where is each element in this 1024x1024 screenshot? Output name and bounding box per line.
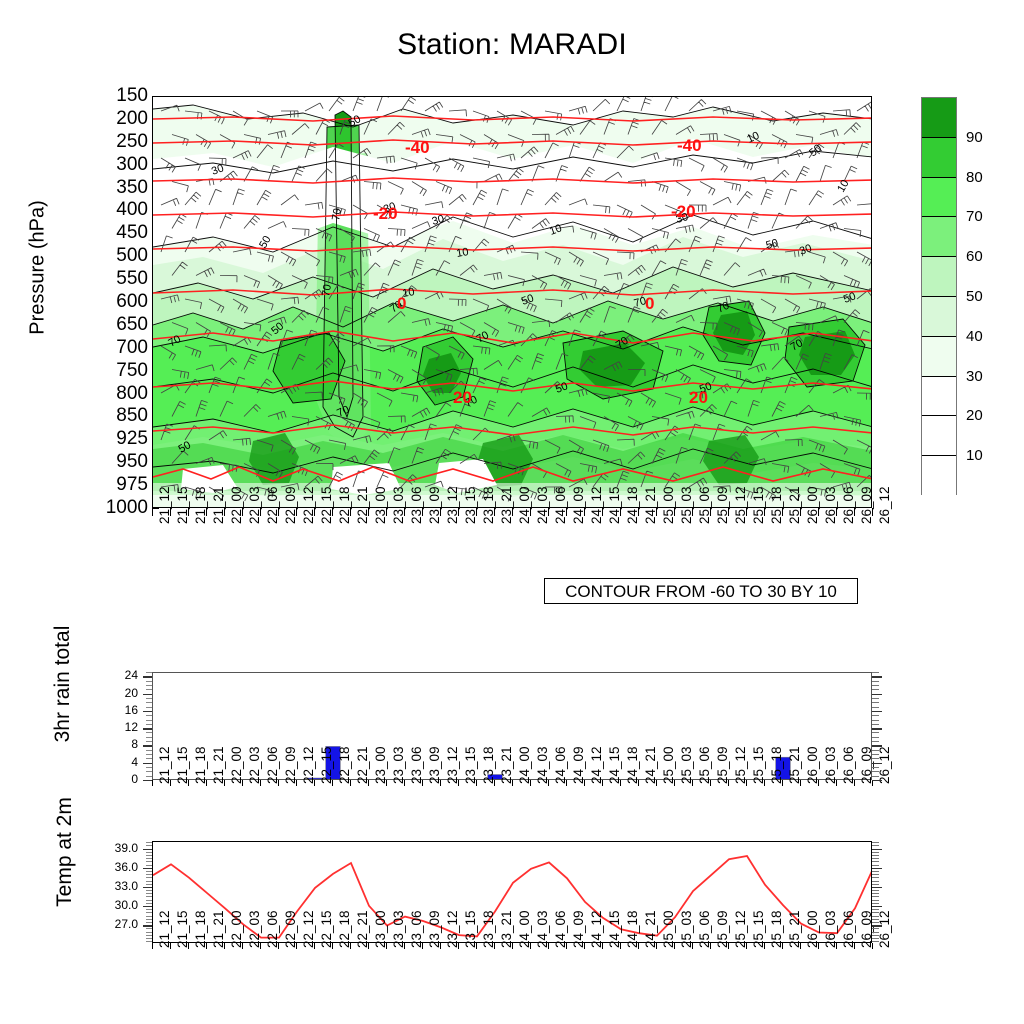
svg-text:10: 10 xyxy=(455,246,469,260)
rain-y-tick: 24 xyxy=(98,669,138,681)
svg-text:0: 0 xyxy=(397,294,406,313)
temp-x-tick-mark xyxy=(350,943,351,949)
main-x-tick-mark xyxy=(494,508,495,516)
main-x-tick: 23_06 xyxy=(409,486,424,524)
rain-right-tick xyxy=(872,689,879,690)
rain-x-tick: 23_12 xyxy=(445,746,460,784)
rain-right-tick xyxy=(872,728,882,729)
main-x-tick-mark xyxy=(584,508,585,516)
temp-y-tick: 33.0 xyxy=(88,880,138,892)
temp-y-tick: 39.0 xyxy=(88,842,138,854)
temp-x-tick-mark xyxy=(188,943,189,949)
temp-x-tick-mark xyxy=(656,943,657,949)
temp-x-tick-mark xyxy=(440,943,441,949)
rain-x-tick: 22_12 xyxy=(301,746,316,784)
rain-x-tick: 23_15 xyxy=(463,746,478,784)
temp-x-tick-mark xyxy=(638,943,639,949)
rain-x-tick-mark xyxy=(278,780,279,786)
temp-y-tick-mark xyxy=(143,868,152,869)
temp-x-tick-mark xyxy=(332,943,333,949)
main-x-tick-mark xyxy=(548,508,549,516)
rain-y-tick: 8 xyxy=(98,738,138,750)
temp-x-tick-mark xyxy=(422,943,423,949)
svg-text:70: 70 xyxy=(330,207,344,221)
temp-x-tick-mark xyxy=(476,943,477,949)
colorbar-cell xyxy=(922,98,956,138)
rain-x-tick-mark xyxy=(728,780,729,786)
rain-right-tick xyxy=(872,763,882,764)
temp-x-tick-mark xyxy=(170,943,171,949)
main-x-tick-mark xyxy=(710,508,711,516)
svg-text:70: 70 xyxy=(320,283,334,297)
rain-x-tick-mark xyxy=(620,780,621,786)
temp-x-tick-mark xyxy=(674,943,675,949)
temp-right-tick xyxy=(872,935,879,936)
rain-x-tick: 21_12 xyxy=(157,746,172,784)
rain-x-tick-mark xyxy=(674,780,675,786)
main-x-tick-mark xyxy=(800,508,801,516)
rain-x-tick-mark xyxy=(602,780,603,786)
temp-x-tick-mark xyxy=(386,943,387,949)
temp-x-tick-mark xyxy=(152,943,153,949)
main-y-tick: 250 xyxy=(88,132,148,151)
rain-x-tick-mark xyxy=(746,780,747,786)
main-x-tick: 26_00 xyxy=(805,486,820,524)
rain-x-tick: 23_18 xyxy=(481,746,496,784)
rain-x-tick: 24_15 xyxy=(607,746,622,784)
main-x-tick-mark xyxy=(350,508,351,516)
rain-x-tick: 24_00 xyxy=(517,746,532,784)
main-x-tick: 22_00 xyxy=(229,486,244,524)
colorbar-cell xyxy=(922,377,956,417)
humidity-cross-section-plot[interactable]: 30 50 50 70 70 70 30 30 10 70 50 70 70 5… xyxy=(152,96,872,508)
rain-x-tick: 22_00 xyxy=(229,746,244,784)
main-x-tick: 25_15 xyxy=(751,486,766,524)
main-y-tick: 150 xyxy=(88,86,148,105)
rain-x-tick: 26_03 xyxy=(823,746,838,784)
temp-y-tick-mark xyxy=(143,849,152,850)
rain-x-tick-mark xyxy=(494,780,495,786)
main-y-tick: 700 xyxy=(88,338,148,357)
rain-x-tick: 22_18 xyxy=(337,746,352,784)
rain-x-tick-mark xyxy=(476,780,477,786)
main-x-tick-mark xyxy=(674,508,675,516)
temp-axis-label: Temp at 2m xyxy=(53,752,77,952)
rain-y-tick-mark xyxy=(143,745,152,746)
main-x-tick: 24_00 xyxy=(517,486,532,524)
main-x-tick-mark xyxy=(746,508,747,516)
temp-y-tick-mark xyxy=(143,887,152,888)
colorbar-cell xyxy=(922,416,956,456)
temp-x-tick-mark xyxy=(818,943,819,949)
main-x-tick: 26_06 xyxy=(841,486,856,524)
main-x-tick-mark xyxy=(170,508,171,516)
main-x-tick-mark xyxy=(728,508,729,516)
temp-right-tick xyxy=(872,922,879,923)
rain-x-tick-mark xyxy=(386,780,387,786)
temp-x-tick-mark xyxy=(404,943,405,949)
main-x-tick: 23_03 xyxy=(391,486,406,524)
main-x-tick: 22_12 xyxy=(301,486,316,524)
main-x-tick: 22_03 xyxy=(247,486,262,524)
main-x-tick: 23_09 xyxy=(427,486,442,524)
rain-x-tick-mark xyxy=(782,780,783,786)
temp-right-tick xyxy=(872,928,879,929)
rain-x-tick-mark xyxy=(584,780,585,786)
main-x-tick-mark xyxy=(656,508,657,516)
main-x-tick-mark xyxy=(620,508,621,516)
temp-right-tick xyxy=(872,900,879,901)
main-x-tick-mark xyxy=(422,508,423,516)
temp-right-tick xyxy=(872,916,879,917)
rain-right-tick xyxy=(872,780,882,781)
colorbar-cell xyxy=(922,297,956,337)
rain-x-tick: 21_21 xyxy=(211,746,226,784)
temp-x-tick-mark xyxy=(728,943,729,949)
main-x-tick: 24_15 xyxy=(607,486,622,524)
rain-x-tick-mark xyxy=(800,780,801,786)
temp-right-tick xyxy=(872,877,879,878)
main-y-tick: 850 xyxy=(88,406,148,425)
colorbar-cell xyxy=(922,337,956,377)
temp-x-tick-mark xyxy=(260,943,261,949)
rain-y-tick: 20 xyxy=(98,687,138,699)
temp-y-tick: 27.0 xyxy=(88,918,138,930)
rain-x-tick-mark xyxy=(404,780,405,786)
main-x-tick-mark xyxy=(242,508,243,516)
rain-right-tick xyxy=(872,694,882,695)
main-x-tick: 23_12 xyxy=(445,486,460,524)
main-x-tick: 22_09 xyxy=(283,486,298,524)
main-y-tick: 1000 xyxy=(88,498,148,517)
rain-y-tick: 0 xyxy=(98,773,138,785)
svg-text:-40: -40 xyxy=(677,136,702,155)
colorbar-cell xyxy=(922,217,956,257)
main-x-tick: 25_12 xyxy=(733,486,748,524)
temp-x-tick-mark xyxy=(602,943,603,949)
temp-right-tick xyxy=(872,861,879,862)
temp-x-tick-mark xyxy=(458,943,459,949)
temp-x-tick-mark xyxy=(548,943,549,949)
rain-x-tick-mark xyxy=(242,780,243,786)
rain-y-tick-mark xyxy=(143,763,152,764)
main-x-tick-mark xyxy=(224,508,225,516)
contour-note: CONTOUR FROM -60 TO 30 BY 10 xyxy=(544,578,858,604)
temp-x-tick-mark xyxy=(620,943,621,949)
temp-x-tick-mark xyxy=(746,943,747,949)
rain-x-tick-mark xyxy=(350,780,351,786)
rain-y-tick: 4 xyxy=(98,756,138,768)
svg-text:-20: -20 xyxy=(373,204,398,223)
rain-x-tick: 25_18 xyxy=(769,746,784,784)
svg-text:20: 20 xyxy=(453,388,472,407)
colorbar-tick-label: 10 xyxy=(966,448,983,463)
temp-x-tick-mark xyxy=(854,943,855,949)
rain-right-tick xyxy=(872,732,879,733)
main-y-axis-label: Pressure (hPa) xyxy=(27,88,50,448)
colorbar-tick-label: 50 xyxy=(966,289,983,304)
main-x-tick-mark xyxy=(386,508,387,516)
rain-x-tick: 25_06 xyxy=(697,746,712,784)
rain-x-tick: 25_00 xyxy=(661,746,676,784)
main-x-tick: 25_00 xyxy=(661,486,676,524)
svg-text:-40: -40 xyxy=(405,138,430,157)
rain-x-tick-mark xyxy=(548,780,549,786)
temp-right-tick xyxy=(872,858,879,859)
main-x-tick: 24_06 xyxy=(553,486,568,524)
colorbar-tick-label: 20 xyxy=(966,408,983,423)
rain-x-tick: 26_09 xyxy=(859,746,874,784)
temp-x-tick-mark xyxy=(368,943,369,949)
rain-x-tick-mark xyxy=(170,780,171,786)
temp-right-tick xyxy=(872,865,879,866)
rain-x-tick-mark xyxy=(710,780,711,786)
temp-x-tick-mark xyxy=(782,943,783,949)
main-x-tick: 25_18 xyxy=(769,486,784,524)
temp-right-tick xyxy=(872,871,879,872)
temp-x-tick-mark xyxy=(800,943,801,949)
temp-right-tick xyxy=(872,881,879,882)
main-x-tick: 22_21 xyxy=(355,486,370,524)
main-x-tick-mark xyxy=(458,508,459,516)
rain-x-tick: 26_06 xyxy=(841,746,856,784)
main-x-tick: 21_12 xyxy=(157,486,172,524)
rain-right-tick xyxy=(872,720,879,721)
main-x-tick: 21_15 xyxy=(175,486,190,524)
main-x-tick: 24_12 xyxy=(589,486,604,524)
temp-x-tick-mark xyxy=(530,943,531,949)
rain-x-tick: 24_03 xyxy=(535,746,550,784)
main-y-tick: 500 xyxy=(88,246,148,265)
temp-x-tick-mark xyxy=(872,943,873,949)
main-x-tick: 25_21 xyxy=(787,486,802,524)
cross-section-svg: 30 50 50 70 70 70 30 30 10 70 50 70 70 5… xyxy=(153,97,872,508)
rain-x-tick-mark xyxy=(260,780,261,786)
main-x-tick: 26_03 xyxy=(823,486,838,524)
main-x-tick-mark xyxy=(836,508,837,516)
rain-x-tick-mark xyxy=(152,780,153,786)
rain-x-tick: 24_09 xyxy=(571,746,586,784)
main-y-tick: 975 xyxy=(88,475,148,494)
rain-x-tick-mark xyxy=(206,780,207,786)
main-y-tick: 750 xyxy=(88,361,148,380)
main-x-tick-mark xyxy=(566,508,567,516)
rain-right-tick xyxy=(872,707,879,708)
rain-right-tick xyxy=(872,724,879,725)
rain-x-tick: 24_18 xyxy=(625,746,640,784)
main-x-tick-mark xyxy=(476,508,477,516)
rain-x-tick: 25_09 xyxy=(715,746,730,784)
main-x-tick: 21_18 xyxy=(193,486,208,524)
rain-x-tick-mark xyxy=(314,780,315,786)
rain-right-tick xyxy=(872,754,879,755)
rain-x-tick-mark xyxy=(296,780,297,786)
rain-right-tick xyxy=(872,737,879,738)
rain-x-tick: 23_00 xyxy=(373,746,388,784)
page-title: Station: MARADI xyxy=(0,28,1024,62)
rain-x-tick: 22_21 xyxy=(355,746,370,784)
main-x-tick: 26_09 xyxy=(859,486,874,524)
main-x-tick: 23_00 xyxy=(373,486,388,524)
main-x-tick: 22_15 xyxy=(319,486,334,524)
temp-x-tick: 26_12 xyxy=(877,910,892,948)
rain-x-tick: 26_12 xyxy=(877,746,892,784)
temp-x-tick-mark xyxy=(296,943,297,949)
rain-right-tick xyxy=(872,715,879,716)
rain-right-tick xyxy=(872,702,879,703)
main-x-tick-mark xyxy=(206,508,207,516)
rain-x-tick-mark xyxy=(836,780,837,786)
temp-right-tick xyxy=(872,868,882,869)
temp-x-tick-mark xyxy=(278,943,279,949)
colorbar-tick-label: 90 xyxy=(966,130,983,145)
rain-x-tick: 21_18 xyxy=(193,746,208,784)
temp-right-tick xyxy=(872,845,879,846)
colorbar-tick-label: 80 xyxy=(966,170,983,185)
main-y-tick: 600 xyxy=(88,292,148,311)
main-x-tick: 25_03 xyxy=(679,486,694,524)
rain-axis-label: 3hr rain total xyxy=(51,594,75,774)
main-x-tick: 23_21 xyxy=(499,486,514,524)
main-x-tick: 22_18 xyxy=(337,486,352,524)
rain-right-tick xyxy=(872,767,879,768)
rain-x-tick: 24_06 xyxy=(553,746,568,784)
rain-y-tick: 12 xyxy=(98,721,138,733)
main-y-tick: 925 xyxy=(88,429,148,448)
temp-right-tick xyxy=(872,938,879,939)
main-x-tick: 25_06 xyxy=(697,486,712,524)
temp-x-tick-mark xyxy=(242,943,243,949)
rain-right-tick xyxy=(872,672,879,673)
rain-x-tick: 22_09 xyxy=(283,746,298,784)
temp-right-tick xyxy=(872,912,879,913)
rain-right-tick xyxy=(872,711,882,712)
main-x-tick: 23_18 xyxy=(481,486,496,524)
temp-right-tick xyxy=(872,849,882,850)
temp-right-tick xyxy=(872,884,879,885)
rain-x-tick-mark xyxy=(332,780,333,786)
rain-x-tick: 24_21 xyxy=(643,746,658,784)
main-x-tick: 21_21 xyxy=(211,486,226,524)
main-x-tick: 23_15 xyxy=(463,486,478,524)
main-x-tick-mark xyxy=(278,508,279,516)
temp-x-tick-mark xyxy=(566,943,567,949)
main-x-tick-mark xyxy=(782,508,783,516)
main-x-tick-mark xyxy=(872,508,873,516)
rain-x-tick: 25_21 xyxy=(787,746,802,784)
colorbar-cell xyxy=(922,138,956,178)
temp-y-tick: 36.0 xyxy=(88,861,138,873)
main-x-tick-mark xyxy=(854,508,855,516)
main-y-tick: 350 xyxy=(88,178,148,197)
rain-x-tick: 25_15 xyxy=(751,746,766,784)
temp-x-tick-mark xyxy=(512,943,513,949)
rain-x-tick-mark xyxy=(440,780,441,786)
rain-y-tick-mark xyxy=(143,728,152,729)
temp-x-tick-mark xyxy=(764,943,765,949)
temp-x-tick-mark xyxy=(224,943,225,949)
temp-right-tick xyxy=(872,909,879,910)
rain-x-tick-mark xyxy=(764,780,765,786)
temp-right-tick xyxy=(872,903,879,904)
main-x-tick-mark xyxy=(260,508,261,516)
main-x-tick: 24_18 xyxy=(625,486,640,524)
main-x-tick: 24_21 xyxy=(643,486,658,524)
main-x-tick-mark xyxy=(332,508,333,516)
main-x-tick-mark xyxy=(638,508,639,516)
temp-x-tick-mark xyxy=(692,943,693,949)
main-x-tick-mark xyxy=(152,508,153,516)
rain-x-tick: 25_03 xyxy=(679,746,694,784)
main-y-tick: 450 xyxy=(88,223,148,242)
rain-x-tick: 22_15 xyxy=(319,746,334,784)
temp-right-tick xyxy=(872,919,879,920)
colorbar-tick-label: 40 xyxy=(966,329,983,344)
colorbar-cell xyxy=(922,456,956,496)
rain-right-tick xyxy=(872,776,879,777)
svg-text:0: 0 xyxy=(645,294,654,313)
rain-x-tick-mark xyxy=(854,780,855,786)
rain-right-tick xyxy=(872,741,879,742)
main-x-tick-mark xyxy=(296,508,297,516)
rain-x-tick-mark xyxy=(566,780,567,786)
main-x-tick-mark xyxy=(530,508,531,516)
main-x-tick: 24_09 xyxy=(571,486,586,524)
rain-x-tick-mark xyxy=(818,780,819,786)
rain-x-tick: 23_06 xyxy=(409,746,424,784)
rain-right-tick xyxy=(872,771,879,772)
rain-x-tick: 22_03 xyxy=(247,746,262,784)
main-x-tick-mark xyxy=(440,508,441,516)
rain-right-tick xyxy=(872,745,882,746)
temp-right-tick xyxy=(872,842,879,843)
temp-right-tick xyxy=(872,855,879,856)
rain-y-tick-mark xyxy=(143,780,152,781)
rain-right-tick xyxy=(872,676,882,677)
rain-right-tick xyxy=(872,698,879,699)
rain-x-tick-mark xyxy=(368,780,369,786)
temp-right-tick xyxy=(872,906,882,907)
rain-right-tick xyxy=(872,685,879,686)
colorbar-cell xyxy=(922,257,956,297)
main-x-tick-mark xyxy=(368,508,369,516)
temp-right-tick xyxy=(872,941,879,942)
colorbar-tick-label: 70 xyxy=(966,209,983,224)
rain-right-tick xyxy=(872,758,879,759)
temp-x-tick-mark xyxy=(836,943,837,949)
main-x-tick: 22_06 xyxy=(265,486,280,524)
temp-x-tick-mark xyxy=(314,943,315,949)
temp-right-tick xyxy=(872,932,879,933)
main-x-tick-mark xyxy=(818,508,819,516)
main-x-tick: 25_09 xyxy=(715,486,730,524)
temp-x-tick-mark xyxy=(206,943,207,949)
rain-x-tick-mark xyxy=(224,780,225,786)
rain-y-tick-mark xyxy=(143,694,152,695)
main-y-tick: 950 xyxy=(88,452,148,471)
temp-x-tick-mark xyxy=(710,943,711,949)
rain-x-tick-mark xyxy=(458,780,459,786)
rain-x-tick-mark xyxy=(656,780,657,786)
temp-right-tick xyxy=(872,874,879,875)
main-y-tick: 400 xyxy=(88,200,148,219)
main-y-tick: 650 xyxy=(88,315,148,334)
main-y-tick: 550 xyxy=(88,269,148,288)
temp-y-tick-mark xyxy=(143,925,152,926)
rain-right-tick xyxy=(872,750,879,751)
rain-x-tick-mark xyxy=(530,780,531,786)
main-x-tick-mark xyxy=(602,508,603,516)
